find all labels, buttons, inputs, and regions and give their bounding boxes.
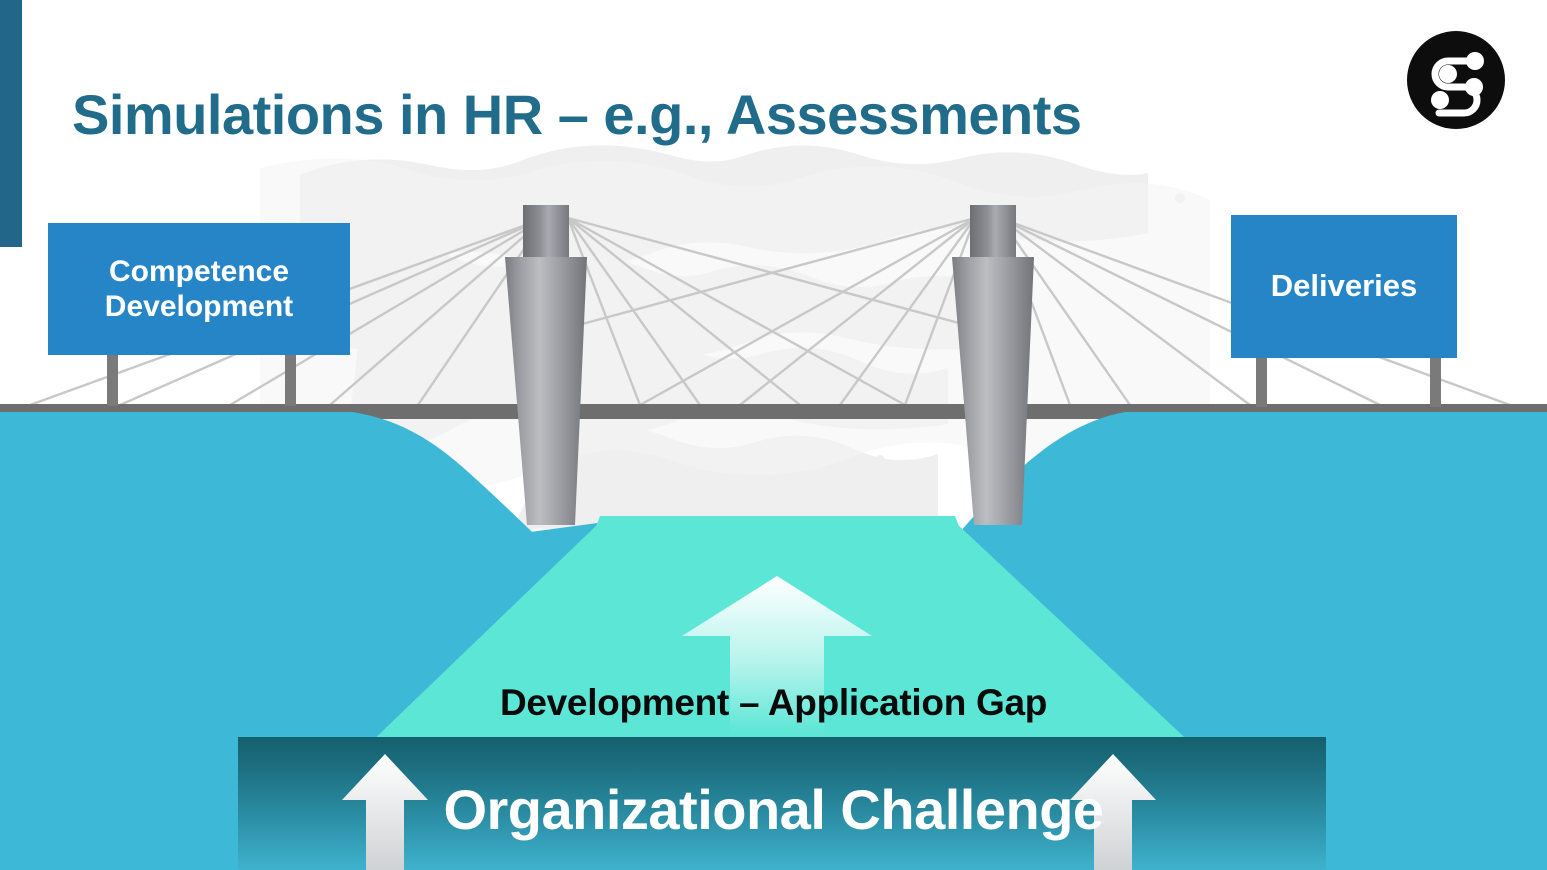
tower-cap-right xyxy=(970,205,1016,257)
sign-competence-development[interactable]: Competence Development xyxy=(48,223,350,355)
sign-post-right-b xyxy=(1430,355,1441,407)
sign-line-1: Competence xyxy=(109,254,289,289)
sign-post-left-b xyxy=(285,352,296,406)
sign-label: Deliveries xyxy=(1271,268,1418,305)
sign-deliveries[interactable]: Deliveries xyxy=(1231,215,1457,358)
sign-line-2: Development xyxy=(105,289,293,324)
bridge-tower-right xyxy=(952,205,1034,525)
tower-cap-left xyxy=(523,205,569,257)
slide-canvas: Simulations in HR – e.g., Assessments xyxy=(0,0,1547,870)
sign-post-left-a xyxy=(107,352,118,406)
gap-label: Development – Application Gap xyxy=(0,682,1547,724)
bridge-tower-left xyxy=(505,205,587,525)
banner-label: Organizational Challenge xyxy=(0,777,1547,842)
sign-post-right-a xyxy=(1256,355,1267,407)
